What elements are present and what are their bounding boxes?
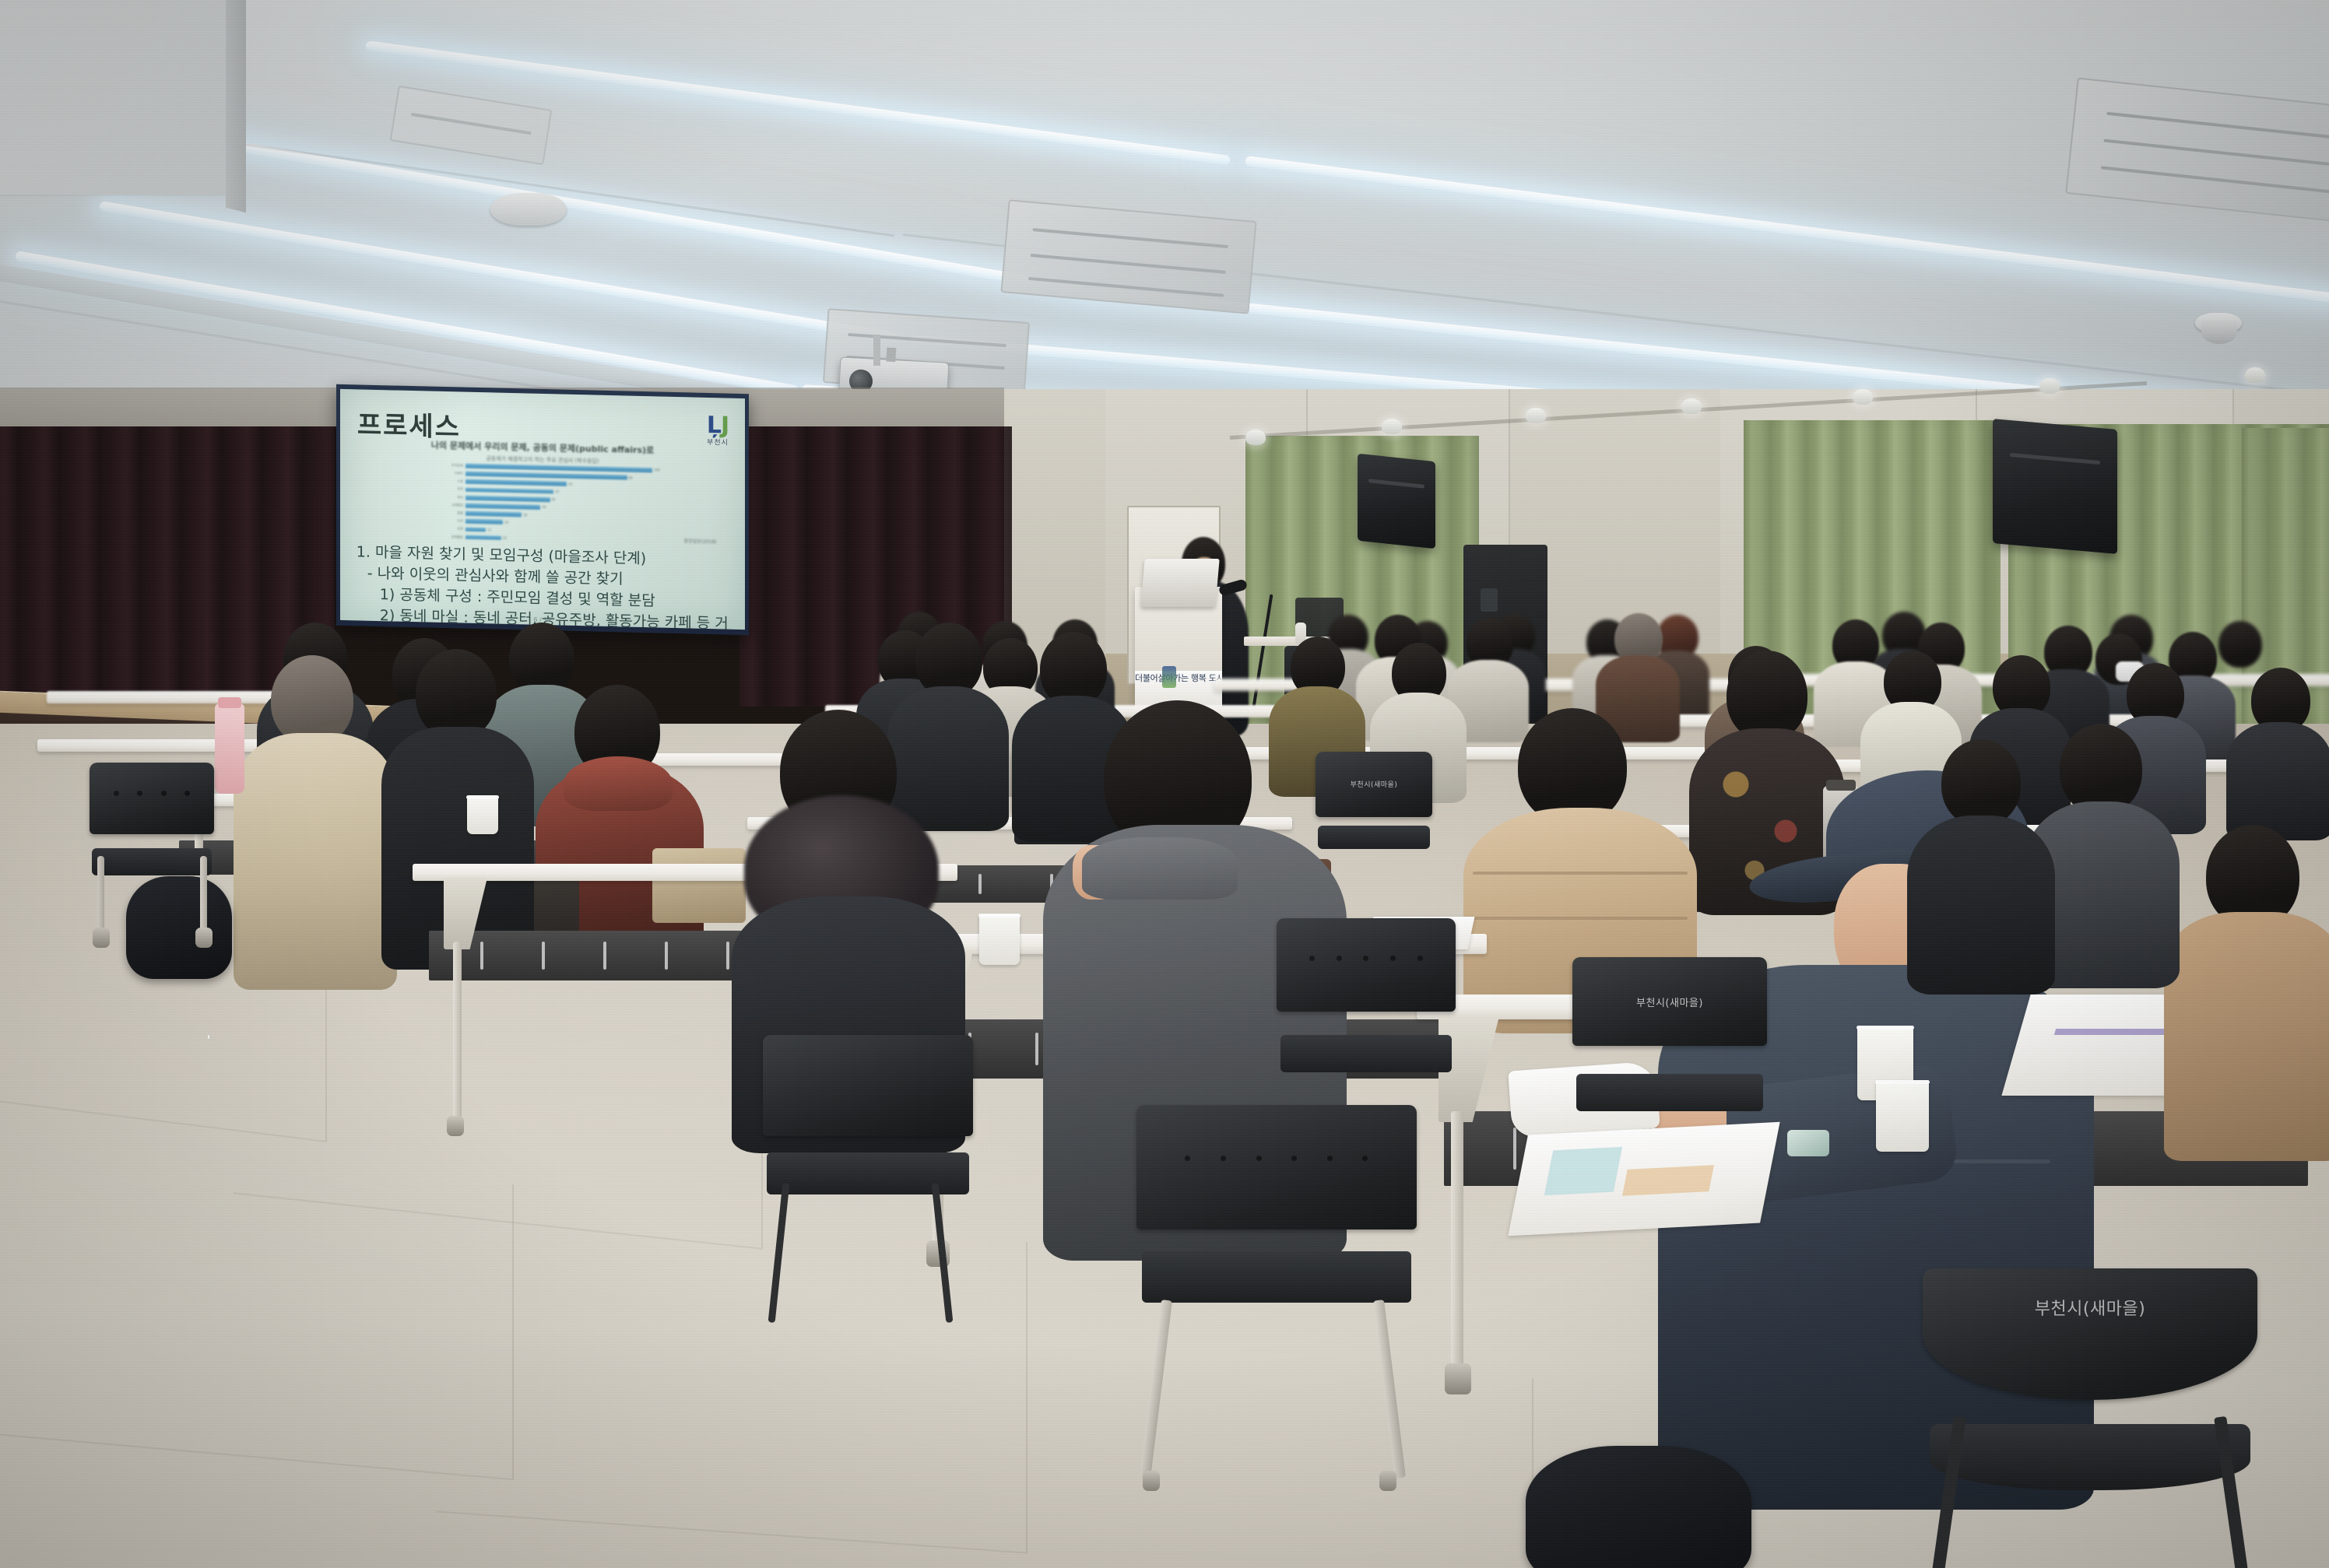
chart-category-label: 복지: [441, 495, 465, 500]
wall-speaker: [1358, 454, 1435, 549]
chart-value-label: 30: [522, 513, 527, 517]
chair-caster: [1143, 1471, 1160, 1491]
head: [1941, 739, 2021, 826]
lecture-hall-photo: 프로세스 ĻJ 부천시 나의 문제에서 우리의 문제, 공동의 문제(publi…: [0, 0, 2329, 1568]
panel-slot: [1035, 1033, 1038, 1066]
chair-frame: [932, 1183, 954, 1323]
chart-category-label: 안전: [441, 486, 465, 492]
panel-slot: [542, 942, 545, 970]
audience-person: [2226, 668, 2329, 836]
chart-bar: [465, 519, 503, 524]
chair-caster: [93, 928, 110, 948]
ceiling: [0, 0, 2329, 436]
projection-screen: 프로세스 ĻJ 부천시 나의 문제에서 우리의 문제, 공동의 문제(publi…: [340, 389, 745, 630]
chart-value-label: 20: [503, 521, 508, 524]
torso: [2226, 722, 2329, 840]
ceiling-air-vent: [2065, 78, 2329, 226]
chair-back: 부천시(새마을): [1923, 1268, 2257, 1400]
coat-collar: [1082, 837, 1238, 900]
chair-seat[interactable]: [1576, 1074, 1763, 1111]
track-spotlight: [2039, 378, 2060, 394]
ceiling-bulkhead-edge: [226, 0, 246, 212]
table-caster: [447, 1116, 464, 1136]
chart-bar: [465, 495, 550, 501]
head: [416, 649, 497, 739]
chair[interactable]: [1136, 1105, 1417, 1471]
panel-slot: [665, 942, 668, 970]
chart-bar: [465, 535, 501, 540]
chart-value-label: 86: [627, 475, 633, 479]
backpack: [1526, 1446, 1751, 1568]
chair[interactable]: 부천시(새마을): [1572, 957, 1767, 1191]
panel-slot: [978, 874, 982, 895]
chart-category-label: 쓰레기: [441, 471, 465, 476]
panel-slot: [603, 942, 606, 970]
puffer-quilt-line: [1473, 872, 1688, 875]
chart-bar: [465, 503, 541, 510]
chart-value-label: 47: [553, 489, 559, 493]
chair-back-perforation: [1298, 942, 1435, 974]
bottle-cap-icon: [218, 697, 241, 708]
chair-seat[interactable]: [1142, 1251, 1411, 1303]
chart-bar: [465, 511, 522, 517]
ceiling-air-vent: [390, 86, 553, 165]
chart-value-label: 54: [567, 482, 572, 486]
speaker-port: [1481, 588, 1498, 612]
panel-slot: [726, 942, 729, 970]
chair-frame: [200, 856, 207, 937]
chair-brand-label: 부천시(새마을): [1572, 994, 1767, 1009]
chair[interactable]: 부천시(새마을): [1923, 1268, 2257, 1568]
slide-logo: ĻJ 부천시: [707, 414, 729, 447]
chart-bar: [465, 472, 627, 480]
speaker-grille: [2010, 453, 2099, 465]
track-spotlight: [1853, 389, 1873, 405]
speaker-grille: [1368, 479, 1424, 489]
ceiling-speaker-icon: [2201, 321, 2237, 344]
chart-category-label: 돌봄: [441, 510, 465, 516]
torso: [234, 733, 397, 990]
projector-bracket: [873, 335, 880, 366]
table-leg: [453, 942, 462, 1121]
chart-bar: [465, 527, 487, 531]
track-spotlight: [1526, 408, 1546, 423]
chair-frame: [97, 856, 104, 937]
candy-wrapper: [1787, 1130, 1829, 1156]
chart-bar: [465, 479, 567, 486]
chart-category-label: 소음: [441, 479, 465, 484]
projector-mount: [886, 347, 896, 362]
chair-back-perforation: [104, 781, 199, 805]
pink-water-bottle[interactable]: [215, 703, 244, 794]
chair-back: [1277, 918, 1456, 1012]
chart-value-label: 100: [652, 468, 660, 472]
chart-value-label: 45: [550, 497, 556, 501]
audience-person-tan-coat-right: [2164, 825, 2329, 1152]
head: [271, 655, 353, 745]
paper-cup[interactable]: [467, 795, 498, 834]
chair-seat[interactable]: [92, 848, 212, 875]
chart-category-label: 녹지: [441, 518, 465, 524]
chart-category-label: 교육환경: [441, 503, 465, 508]
head: [1727, 651, 1807, 741]
panel-slot: [480, 942, 483, 970]
table-caster: [1445, 1363, 1471, 1394]
chart-bar: [465, 487, 553, 493]
chair-back: [90, 763, 214, 834]
paper-cup[interactable]: [979, 914, 1020, 965]
bucheon-logo-icon: ĻJ: [707, 414, 729, 438]
chart-category-label: 문화활동: [441, 535, 465, 540]
chart-category-label: 상권: [441, 526, 465, 531]
chair-frame: [1140, 1300, 1172, 1479]
chart-source-label: 중앙일보(2018): [684, 537, 717, 545]
chart-bar-row: 문화활동19: [441, 535, 660, 544]
track-spotlight: [2245, 367, 2265, 383]
slide-bar-chart: 주차문제100쓰레기86소음54안전47복지45교육환경40돌봄30녹지20상권…: [441, 463, 660, 528]
chair-caster: [1379, 1471, 1396, 1491]
paper-cup[interactable]: [1876, 1080, 1929, 1152]
track-spotlight: [1382, 419, 1402, 434]
hood: [564, 756, 673, 811]
chair-caster: [195, 928, 213, 948]
chair-brand-label: 부천시(새마을): [1923, 1295, 2257, 1320]
ceiling-air-vent: [1000, 199, 1256, 314]
chair-seat[interactable]: [1930, 1424, 2251, 1490]
presenter-laptop: [1140, 559, 1219, 607]
panel-slot: [1513, 1128, 1516, 1170]
puffer-quilt-line: [1473, 917, 1688, 920]
head: [2060, 724, 2142, 814]
projection-screen-frame: 프로세스 ĻJ 부천시 나의 문제에서 우리의 문제, 공동의 문제(publi…: [336, 384, 749, 635]
audience-person: [1907, 739, 2055, 980]
track-spotlight: [1681, 398, 1702, 414]
wall-speaker: [1993, 419, 2117, 554]
track-spotlight: [1245, 430, 1266, 445]
torso: [1907, 816, 2055, 994]
chair-back: [763, 1035, 973, 1136]
chair[interactable]: [1277, 918, 1456, 1152]
chart-category-label: 주차문제: [441, 463, 465, 468]
ceiling-light-tube: [217, 139, 1086, 295]
chart-value-label: 40: [540, 505, 546, 509]
chair[interactable]: [763, 1035, 973, 1315]
chair-back: 부천시(새마을): [1572, 957, 1767, 1046]
smoke-detector-icon: [490, 193, 567, 226]
chair-seat[interactable]: [1280, 1035, 1453, 1072]
audience-person-beige-coat: [234, 655, 397, 982]
chart-value-label: 11: [486, 528, 491, 531]
chair-frame: [1373, 1300, 1406, 1479]
podium-logo-icon: [1162, 666, 1176, 688]
chair[interactable]: [90, 763, 214, 934]
chair-frame: [768, 1183, 790, 1323]
ceiling-bulkhead: [0, 0, 241, 195]
chart-value-label: 19: [501, 536, 507, 540]
torso: [2164, 912, 2329, 1161]
